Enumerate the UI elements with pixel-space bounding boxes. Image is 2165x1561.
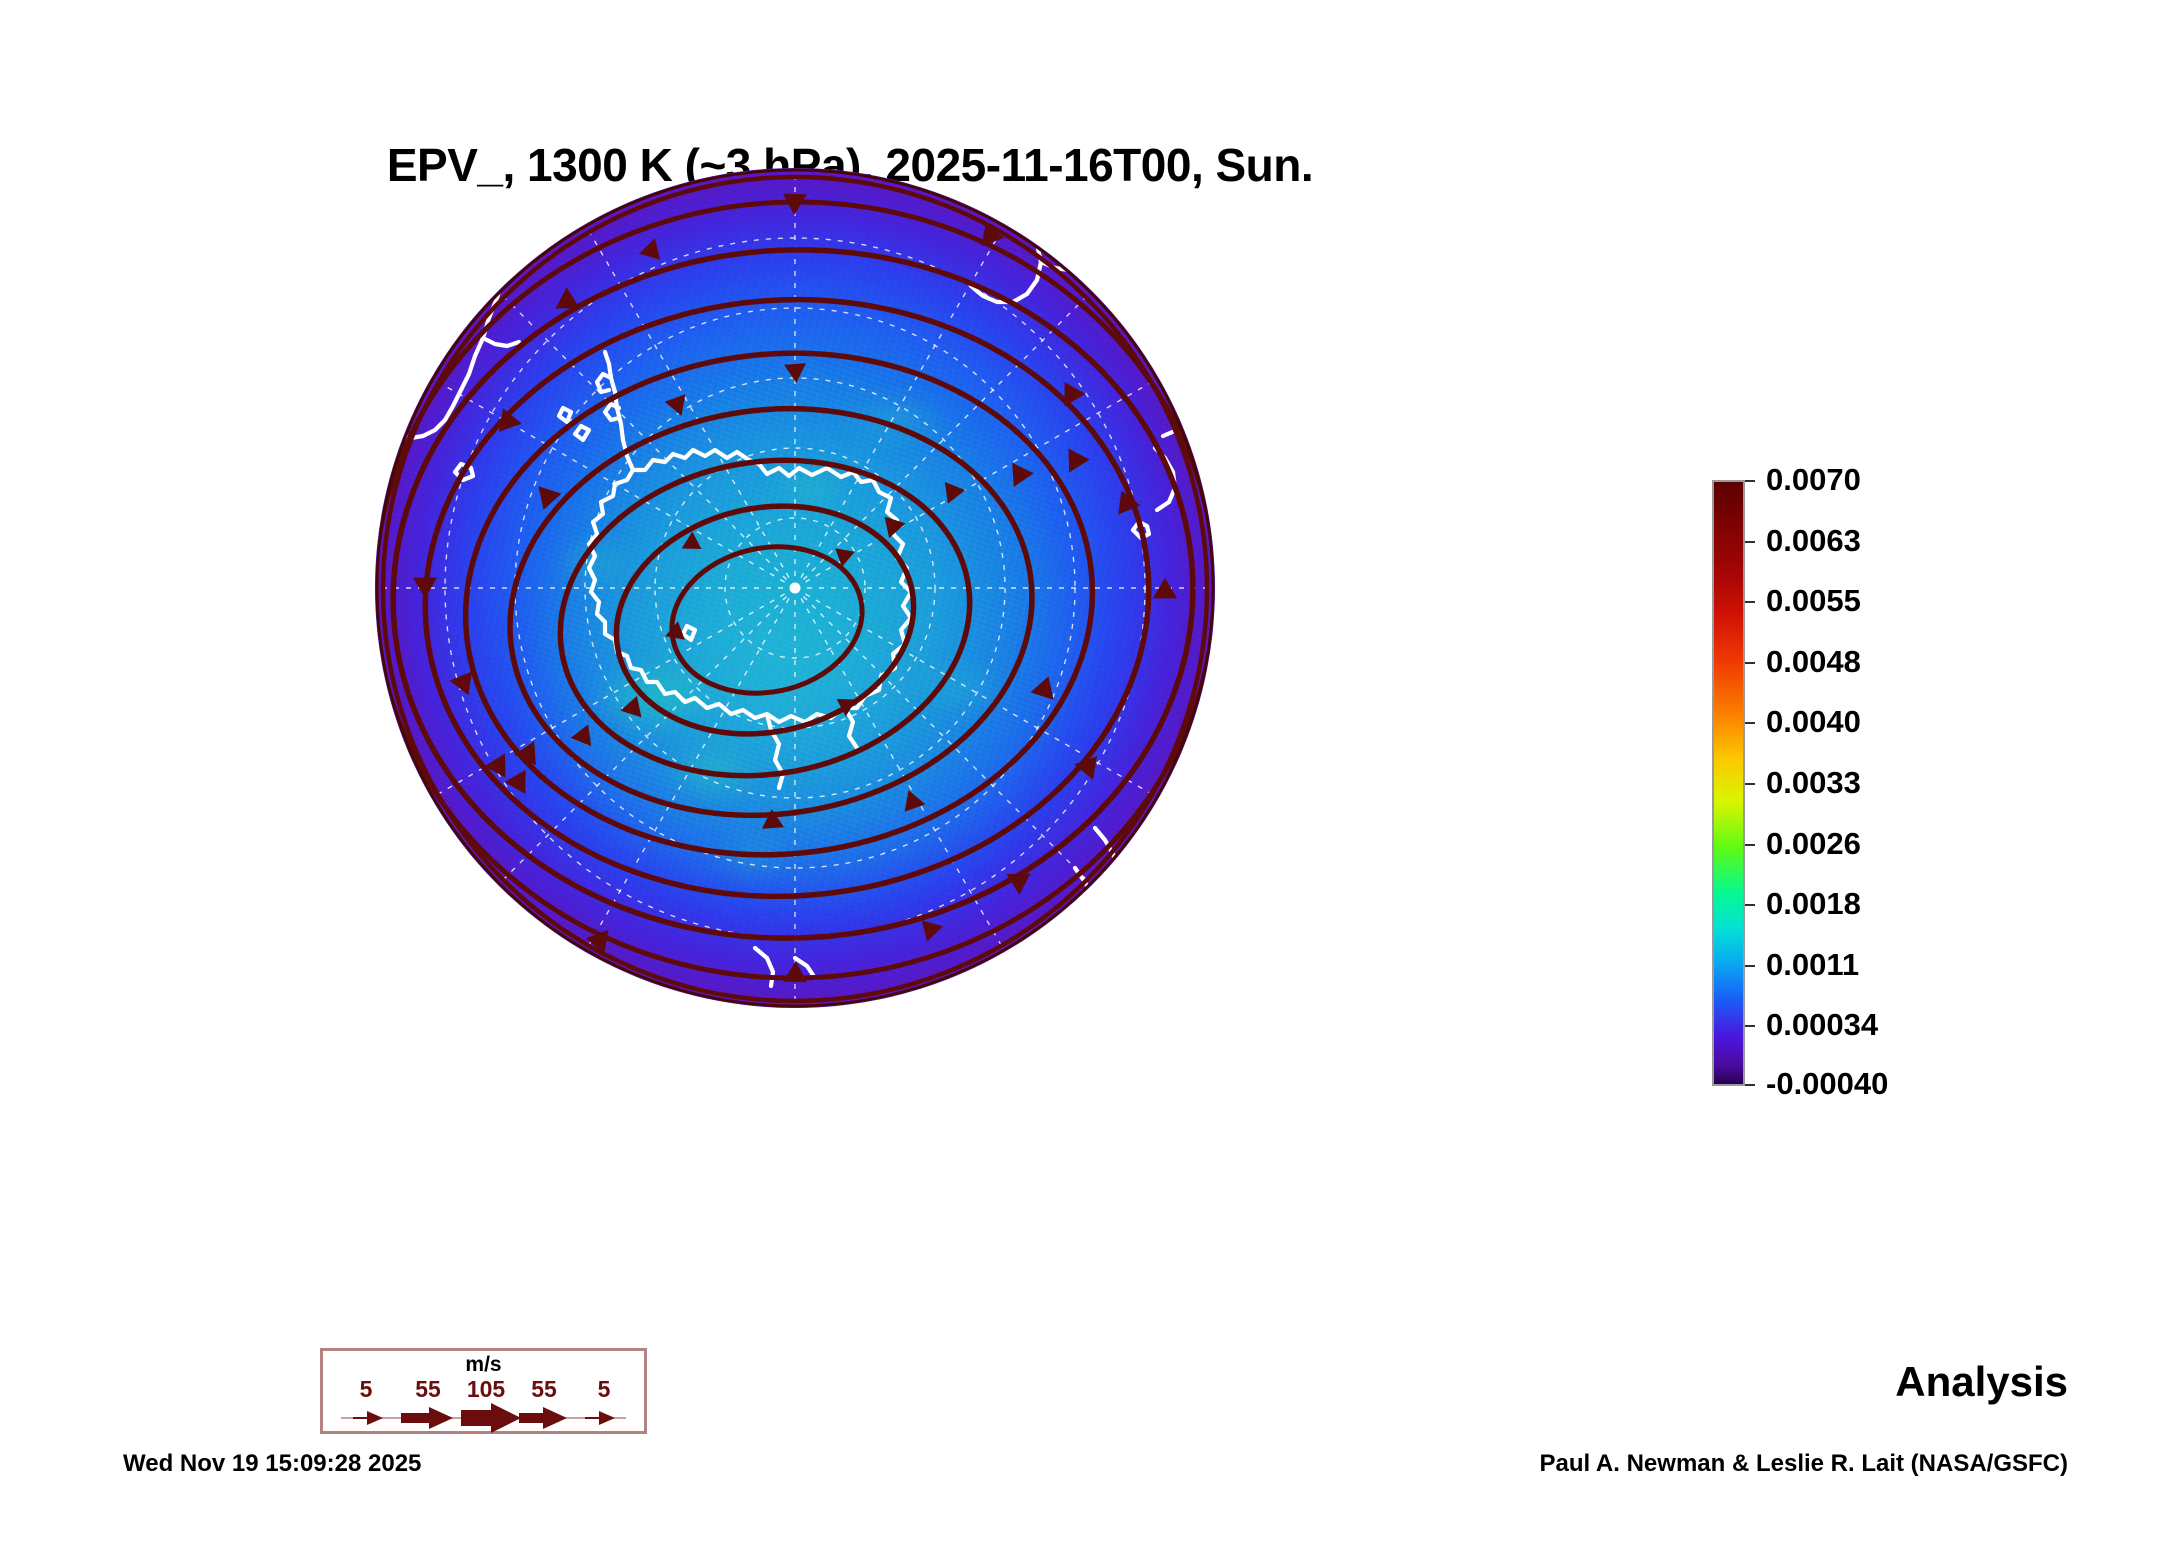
colorbar-tick [1745, 541, 1755, 543]
colorbar-tick [1745, 662, 1755, 664]
colorbar-tick [1745, 722, 1755, 724]
wind-legend-value: 5 [360, 1376, 373, 1403]
polar-stereographic-map[interactable] [375, 168, 1215, 1008]
colorbar-label: 0.0055 [1766, 583, 1861, 619]
wind-legend-value: 55 [415, 1376, 441, 1403]
colorbar-label: 0.0040 [1766, 704, 1861, 740]
generation-timestamp: Wed Nov 19 15:09:28 2025 [123, 1450, 421, 1478]
colorbar-tick [1745, 965, 1755, 967]
wind-legend-value: 5 [598, 1376, 611, 1403]
colorbar-label: 0.0018 [1766, 886, 1861, 922]
wind-legend-units: m/s [323, 1353, 644, 1377]
colorbar-label: 0.0033 [1766, 765, 1861, 801]
colorbar-label: 0.00034 [1766, 1007, 1878, 1043]
wind-speed-legend[interactable]: m/s 5 55 105 55 5 [320, 1348, 647, 1434]
colorbar-label: -0.00040 [1766, 1066, 1888, 1102]
colorbar-label: 0.0063 [1766, 523, 1861, 559]
wind-legend-arrows [323, 1403, 644, 1433]
colorbar-label: 0.0070 [1766, 462, 1861, 498]
colorbar-gradient [1712, 480, 1745, 1086]
analysis-label: Analysis [1895, 1358, 2068, 1406]
colorbar-tick [1745, 1025, 1755, 1027]
wind-legend-value: 105 [467, 1376, 505, 1403]
colorbar-tick [1745, 783, 1755, 785]
colorbar-tick [1745, 601, 1755, 603]
colorbar-tick [1745, 480, 1755, 482]
colorbar-tick [1745, 844, 1755, 846]
colorbar-label: 0.0026 [1766, 826, 1861, 862]
map-overlay-svg [375, 168, 1215, 1008]
colorbar-tick [1745, 904, 1755, 906]
author-credit: Paul A. Newman & Leslie R. Lait (NASA/GS… [1539, 1450, 2068, 1478]
colorbar-label: 0.0011 [1766, 947, 1859, 983]
colorbar-tick [1745, 1084, 1755, 1086]
south-pole-marker [790, 583, 801, 594]
wind-legend-value: 55 [531, 1376, 557, 1403]
map-disc [375, 168, 1215, 1008]
colorbar-label: 0.0048 [1766, 644, 1861, 680]
